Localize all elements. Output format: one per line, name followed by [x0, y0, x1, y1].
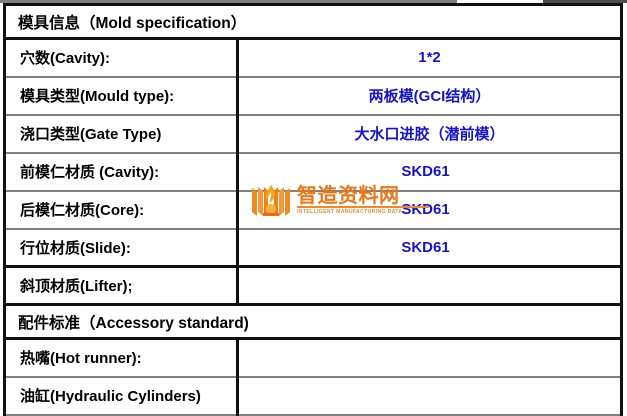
row-value-cell[interactable]: 大水口进胶（潜前模） [238, 115, 622, 153]
label-hydraulic-cylinders: 油缸(Hydraulic Cylinders) [6, 385, 236, 406]
section-title-mold-specification: 模具信息（Mold specification） [6, 11, 620, 33]
row-label-cell: 油缸(Hydraulic Cylinders) [5, 377, 238, 415]
row-value-cell[interactable]: SKD61 [238, 229, 622, 267]
table-row: 后模仁材质(Core): SKD61 [5, 191, 622, 229]
row-label-cell: 浇口类型(Gate Type) [5, 115, 238, 153]
value-mould-type: 两板模(GCI结构） [369, 85, 491, 106]
label-core-material: 后模仁材质(Core): [6, 199, 236, 220]
section-header-cell: 模具信息（Mold specification） [5, 5, 622, 39]
label-slide-material: 行位材质(Slide): [6, 237, 236, 258]
section-header-cell: 配件标准（Accessory standard) [5, 305, 622, 339]
value-slide-material: SKD61 [401, 239, 449, 256]
table-row: 行位材质(Slide): SKD61 [5, 229, 622, 267]
table-row: 穴数(Cavity): 1*2 [5, 39, 622, 77]
row-value-cell[interactable] [238, 339, 622, 377]
row-value-cell[interactable] [238, 377, 622, 415]
mold-specification-table: 模具信息（Mold specification） 穴数(Cavity): 1*2… [3, 3, 623, 416]
value-gate-type: 大水口进胶（潜前模） [354, 123, 504, 144]
table-row: 浇口类型(Gate Type) 大水口进胶（潜前模） [5, 115, 622, 153]
row-value-cell[interactable]: SKD61 [238, 153, 622, 191]
label-mould-type: 模具类型(Mould type): [6, 85, 236, 106]
row-label-cell: 穴数(Cavity): [5, 39, 238, 77]
row-label-cell: 后模仁材质(Core): [5, 191, 238, 229]
table-row: 热嘴(Hot runner): [5, 339, 622, 377]
label-lifter-material: 斜顶材质(Lifter); [6, 275, 236, 296]
row-value-cell[interactable]: 1*2 [238, 39, 622, 77]
table-row: 前模仁材质 (Cavity): SKD61 [5, 153, 622, 191]
row-label-cell: 行位材质(Slide): [5, 229, 238, 267]
row-label-cell: 热嘴(Hot runner): [5, 339, 238, 377]
row-value-cell[interactable] [238, 267, 622, 305]
label-cavity-count: 穴数(Cavity): [6, 47, 236, 68]
row-label-cell: 模具类型(Mould type): [5, 77, 238, 115]
value-cavity-count: 1*2 [418, 49, 441, 66]
label-hot-runner: 热嘴(Hot runner): [6, 347, 236, 368]
table-row: 油缸(Hydraulic Cylinders) [5, 377, 622, 415]
table-row: 模具类型(Mould type): 两板模(GCI结构） [5, 77, 622, 115]
row-label-cell: 前模仁材质 (Cavity): [5, 153, 238, 191]
value-core-material: SKD61 [401, 201, 449, 218]
value-cavity-material: SKD61 [401, 163, 449, 180]
section-header-row: 配件标准（Accessory standard) [5, 305, 622, 339]
spec-sheet: 模具信息（Mold specification） 穴数(Cavity): 1*2… [0, 0, 627, 405]
table-row: 斜顶材质(Lifter); [5, 267, 622, 305]
label-cavity-material: 前模仁材质 (Cavity): [6, 161, 236, 182]
section-title-accessory-standard: 配件标准（Accessory standard) [6, 311, 620, 333]
row-label-cell: 斜顶材质(Lifter); [5, 267, 238, 305]
section-header-row: 模具信息（Mold specification） [5, 5, 622, 39]
label-gate-type: 浇口类型(Gate Type) [6, 123, 236, 144]
row-value-cell[interactable]: 两板模(GCI结构） [238, 77, 622, 115]
row-value-cell[interactable]: SKD61 [238, 191, 622, 229]
